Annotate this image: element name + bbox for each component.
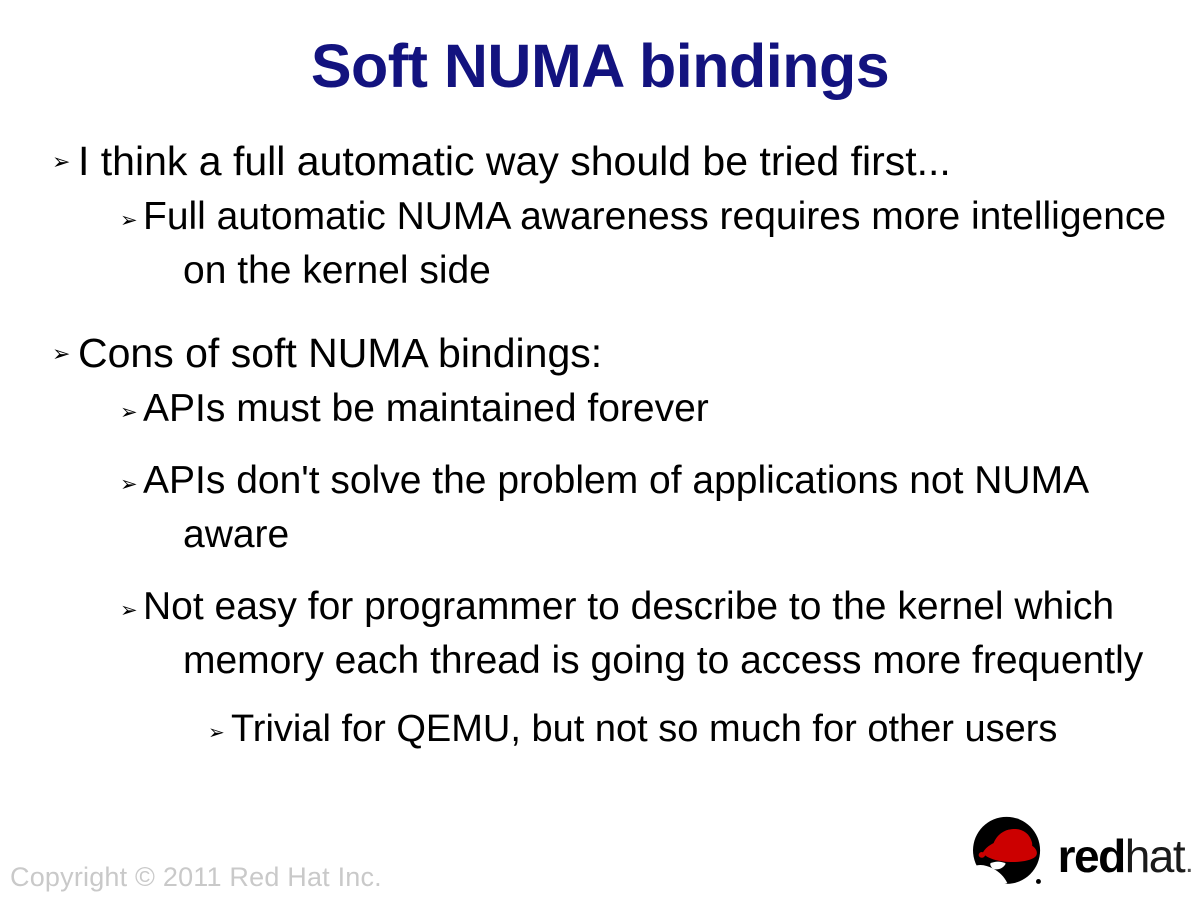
bullet-arrow-icon: ➢	[120, 457, 138, 511]
red-hat-logo: red hat .	[968, 813, 1192, 891]
copyright-notice: Copyright © 2011 Red Hat Inc.	[10, 862, 382, 893]
shadowman-icon	[968, 816, 1050, 888]
bullet-arrow-icon: ➢	[208, 705, 225, 759]
bullet-text: Cons of soft NUMA bindings:	[78, 326, 1200, 380]
slide-body-content: ➢ I think a full automatic way should be…	[0, 134, 1200, 758]
bullet-text: APIs don't solve the problem of applicat…	[183, 454, 1200, 562]
bullet-item-level2: ➢ Not easy for programmer to describe to…	[0, 580, 1200, 688]
wordmark-dot: .	[1185, 848, 1192, 878]
bullet-item-level1: ➢ Cons of soft NUMA bindings:	[0, 326, 1200, 380]
bullet-arrow-icon: ➢	[120, 385, 138, 439]
wordmark-hat: hat	[1125, 833, 1184, 879]
bullet-arrow-icon: ➢	[52, 136, 70, 190]
bullet-item-level2: ➢ APIs must be maintained forever	[0, 382, 1200, 436]
bullet-arrow-icon: ➢	[52, 328, 70, 382]
bullet-text: Full automatic NUMA awareness requires m…	[183, 190, 1200, 298]
bullet-item-level2: ➢ Full automatic NUMA awareness requires…	[0, 190, 1200, 298]
bullet-text: APIs must be maintained forever	[183, 382, 1200, 436]
page-title: Soft NUMA bindings	[0, 34, 1200, 99]
bullet-item-level3: ➢ Trivial for QEMU, but not so much for …	[0, 702, 1200, 756]
bullet-text: I think a full automatic way should be t…	[78, 134, 1200, 188]
bullet-text: Trivial for QEMU, but not so much for ot…	[258, 702, 1200, 756]
presentation-slide: Soft NUMA bindings ➢ I think a full auto…	[0, 0, 1200, 901]
bullet-arrow-icon: ➢	[120, 193, 138, 247]
bullet-arrow-icon: ➢	[120, 583, 138, 637]
wordmark-red: red	[1058, 833, 1125, 879]
bullet-text: Not easy for programmer to describe to t…	[183, 580, 1200, 688]
bullet-item-level2: ➢ APIs don't solve the problem of applic…	[0, 454, 1200, 562]
bullet-item-level1: ➢ I think a full automatic way should be…	[0, 134, 1200, 188]
redhat-wordmark: red hat .	[1058, 833, 1192, 879]
